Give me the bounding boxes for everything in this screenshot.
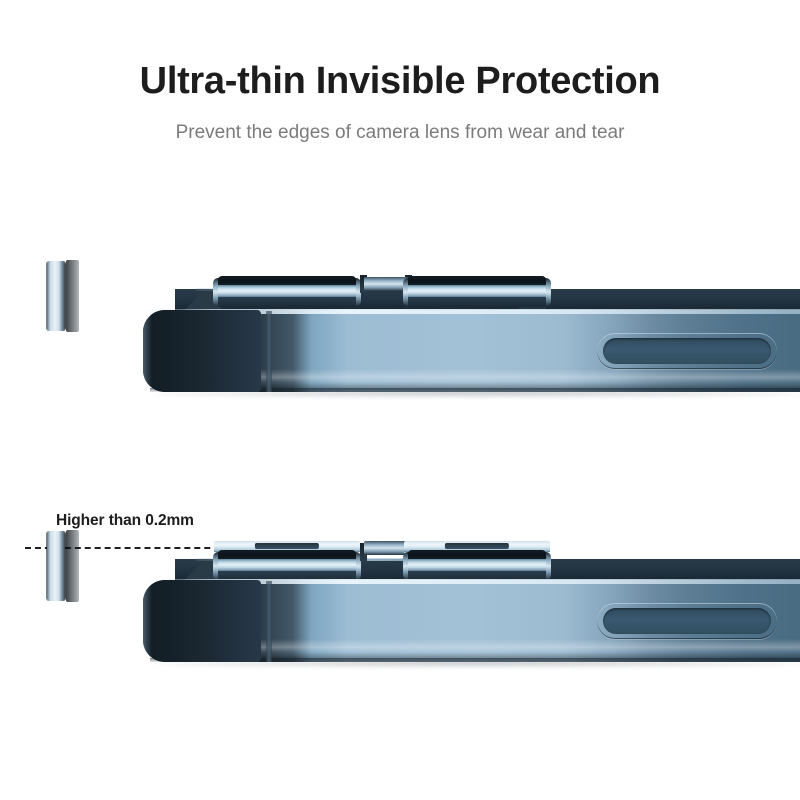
lens-ring-base-band bbox=[218, 297, 356, 307]
phone-without-protector bbox=[0, 255, 800, 415]
mute-switch-shadow bbox=[66, 260, 79, 332]
camera-lens-ring-right bbox=[408, 550, 546, 580]
mid-sensor-module bbox=[364, 541, 408, 555]
protector-inner-notch bbox=[445, 543, 509, 549]
antenna-seam bbox=[266, 311, 272, 392]
product-marketing-banner: Ultra-thin Invisible Protection Prevent … bbox=[0, 0, 800, 800]
phone-with-protector bbox=[0, 525, 800, 685]
page-subtitle: Prevent the edges of camera lens from we… bbox=[0, 120, 800, 147]
device-contact-shadow bbox=[152, 661, 800, 668]
device-left-cap bbox=[143, 580, 261, 662]
mute-switch bbox=[47, 261, 65, 331]
camera-lens-ring-left bbox=[218, 550, 356, 580]
mid-sensor-module bbox=[364, 277, 408, 291]
side-button-inner bbox=[603, 338, 771, 364]
protector-inner-notch bbox=[255, 543, 319, 549]
mute-switch bbox=[47, 531, 65, 601]
mute-switch-shadow bbox=[66, 530, 79, 602]
device-contact-shadow bbox=[152, 391, 800, 398]
camera-lens-ring-right bbox=[408, 276, 546, 306]
device-left-cap bbox=[143, 310, 261, 392]
side-button-inner bbox=[603, 608, 771, 634]
page-title: Ultra-thin Invisible Protection bbox=[0, 62, 800, 102]
camera-lens-ring-left bbox=[218, 276, 356, 306]
lens-ring-base-band bbox=[408, 297, 546, 307]
antenna-seam bbox=[266, 581, 272, 662]
